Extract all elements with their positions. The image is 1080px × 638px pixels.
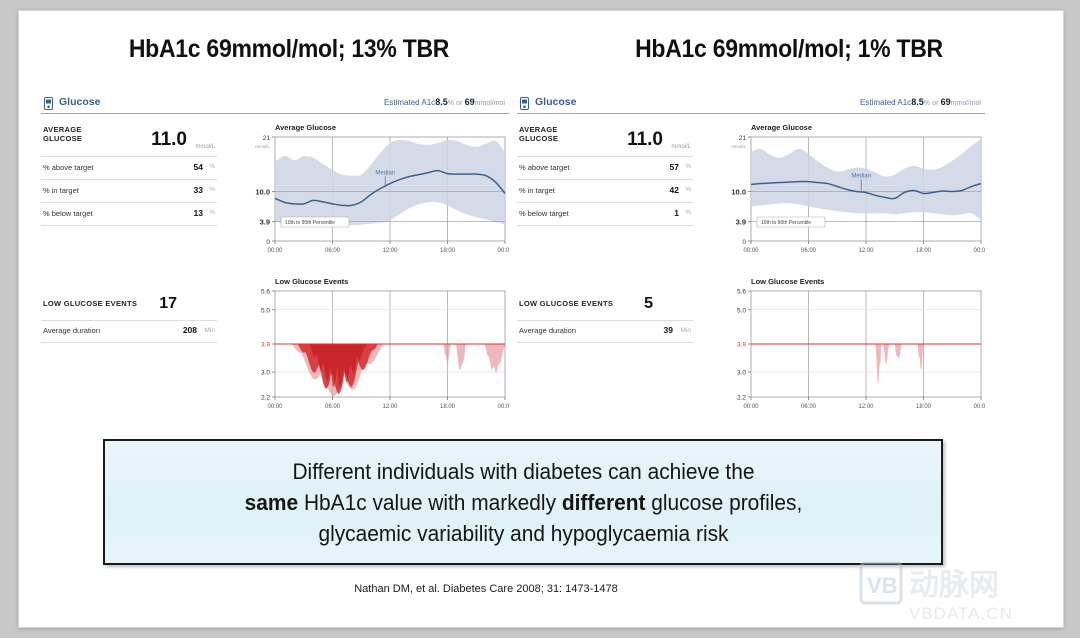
- table-row: % below target 13 %: [41, 203, 217, 226]
- a1c-percent-unit: %: [448, 100, 454, 107]
- svg-text:00:00: 00:00: [743, 248, 759, 254]
- table-row: % above target 57 %: [517, 157, 693, 180]
- svg-text:3.9: 3.9: [260, 218, 270, 227]
- svg-text:06:00: 06:00: [801, 404, 817, 410]
- row-label: % in target: [43, 186, 79, 195]
- svg-text:Median: Median: [375, 171, 395, 177]
- svg-text:10.0: 10.0: [255, 187, 270, 196]
- callout-line-1: Different individuals with diabetes can …: [292, 459, 754, 484]
- heading-right: HbA1c 69mmol/mol; 1% TBR: [577, 35, 1000, 64]
- table-row: % in target 33 %: [41, 180, 217, 203]
- panel-title-right: Glucose: [535, 96, 576, 108]
- svg-text:0: 0: [266, 239, 270, 246]
- svg-text:5.0: 5.0: [737, 307, 746, 314]
- svg-text:5.0: 5.0: [261, 307, 270, 314]
- a1c-prefix: Estimated A1c: [860, 98, 911, 107]
- row-unit: %: [685, 186, 691, 193]
- average-duration-value: 39: [664, 325, 673, 335]
- svg-text:Median: Median: [851, 173, 871, 179]
- svg-text:06:00: 06:00: [325, 404, 341, 410]
- low-glucose-events-row: LOW GLUCOSE EVENTS 5: [517, 293, 693, 321]
- svg-text:06:00: 06:00: [325, 248, 341, 254]
- panel-header-right: Glucose Estimated A1c8.5% or 69mmol/mol: [517, 95, 985, 114]
- a1c-percent-value: 8.5: [911, 97, 924, 107]
- svg-text:3.0: 3.0: [261, 370, 270, 377]
- svg-text:VBDATA.CN: VBDATA.CN: [909, 604, 1013, 623]
- svg-text:0: 0: [742, 239, 746, 246]
- svg-text:18:00: 18:00: [916, 404, 932, 410]
- low-glucose-events-value: 5: [644, 295, 653, 313]
- svg-text:2.2: 2.2: [261, 395, 270, 402]
- average-duration-label: Average duration: [519, 326, 576, 335]
- svg-text:21: 21: [739, 135, 747, 142]
- table-row: % in target 42 %: [517, 180, 693, 203]
- average-glucose-label: AVERAGE GLUCOSE: [43, 125, 113, 143]
- svg-text:12:00: 12:00: [382, 248, 398, 254]
- average-glucose-chart-left: Average Glucose 2110.03.90mmol/L00:0006:…: [233, 123, 509, 263]
- row-unit: %: [209, 186, 215, 193]
- average-glucose-row: AVERAGE GLUCOSE 11.0 mmol/L: [517, 123, 693, 157]
- panel-header-left: Glucose Estimated A1c8.5% or 69mmol/mol: [41, 95, 509, 114]
- callout-line-2-mid: HbA1c value with markedly: [298, 490, 562, 515]
- svg-text:00:00: 00:00: [497, 248, 509, 254]
- low-glucose-events-label: LOW GLUCOSE EVENTS: [43, 299, 137, 308]
- a1c-percent-value: 8.5: [435, 97, 448, 107]
- average-glucose-unit: mmol/L: [671, 144, 691, 150]
- glucose-meter-icon: [44, 97, 53, 115]
- svg-text:2.2: 2.2: [737, 395, 746, 402]
- row-label: % below target: [519, 209, 569, 218]
- svg-text:12:00: 12:00: [382, 404, 398, 410]
- callout-line-2-end: glucose profiles,: [645, 490, 802, 515]
- row-value: 1: [674, 208, 679, 218]
- low-glucose-events-table-left: LOW GLUCOSE EVENTS 17 Average duration 2…: [41, 293, 217, 343]
- callout-emphasis-different: different: [561, 490, 645, 515]
- svg-text:10th to 90th Percentile: 10th to 90th Percentile: [285, 220, 335, 226]
- svg-text:00:00: 00:00: [267, 404, 283, 410]
- svg-text:00:00: 00:00: [497, 404, 509, 410]
- report-panel-right: Glucose Estimated A1c8.5% or 69mmol/mol …: [513, 95, 989, 425]
- average-duration-row: Average duration 208 Min: [41, 321, 217, 343]
- low-glucose-events-value: 17: [159, 295, 177, 313]
- low-glucose-events-label: LOW GLUCOSE EVENTS: [519, 299, 613, 308]
- a1c-mmol-value: 69: [465, 97, 475, 107]
- svg-text:00:00: 00:00: [743, 404, 759, 410]
- average-glucose-row: AVERAGE GLUCOSE 11.0 mmol/L: [41, 123, 217, 157]
- panel-title-left: Glucose: [59, 96, 100, 108]
- citation: Nathan DM, et al. Diabetes Care 2008; 31…: [19, 583, 1063, 595]
- a1c-prefix: Estimated A1c: [384, 98, 435, 107]
- a1c-mmol-value: 69: [941, 97, 951, 107]
- average-duration-unit: Min: [681, 327, 691, 334]
- low-glucose-events-chart-right: Low Glucose Events 5.65.03.93.02.200:000…: [709, 277, 985, 419]
- average-glucose-unit: mmol/L: [195, 144, 215, 150]
- row-value: 13: [194, 208, 203, 218]
- a1c-percent-unit: %: [924, 100, 930, 107]
- callout-line-3: glycaemic variability and hypoglycaemia …: [318, 521, 728, 546]
- row-value: 57: [670, 162, 679, 172]
- stats-table-right: AVERAGE GLUCOSE 11.0 mmol/L % above targ…: [517, 123, 693, 226]
- row-label: % in target: [519, 186, 555, 195]
- row-label: % below target: [43, 209, 93, 218]
- heading-left: HbA1c 69mmol/mol; 13% TBR: [77, 35, 500, 64]
- row-label: % above target: [519, 163, 569, 172]
- report-panel-left: Glucose Estimated A1c8.5% or 69mmol/mol …: [37, 95, 513, 425]
- average-duration-value: 208: [183, 325, 197, 335]
- svg-text:10.0: 10.0: [731, 187, 746, 196]
- svg-text:00:00: 00:00: [973, 248, 985, 254]
- average-glucose-value: 11.0: [151, 129, 187, 151]
- row-value: 42: [670, 185, 679, 195]
- svg-text:06:00: 06:00: [801, 248, 817, 254]
- svg-text:12:00: 12:00: [858, 404, 874, 410]
- glucose-meter-icon: [520, 97, 529, 115]
- svg-text:00:00: 00:00: [973, 404, 985, 410]
- headings-row: HbA1c 69mmol/mol; 13% TBR HbA1c 69mmol/m…: [19, 35, 1063, 79]
- low-glucose-events-row: LOW GLUCOSE EVENTS 17: [41, 293, 217, 321]
- svg-text:18:00: 18:00: [440, 248, 456, 254]
- row-value: 33: [194, 185, 203, 195]
- svg-text:21: 21: [263, 135, 271, 142]
- average-glucose-chart-right: Average Glucose 2110.03.90mmol/L00:0006:…: [709, 123, 985, 263]
- svg-text:3.0: 3.0: [737, 370, 746, 377]
- svg-text:mmol/L: mmol/L: [731, 144, 746, 149]
- callout-emphasis-same: same: [244, 490, 297, 515]
- svg-text:mmol/L: mmol/L: [255, 144, 270, 149]
- svg-text:3.9: 3.9: [736, 218, 746, 227]
- row-value: 54: [194, 162, 203, 172]
- stats-table-left: AVERAGE GLUCOSE 11.0 mmol/L % above targ…: [41, 123, 217, 226]
- estimated-a1c-left: Estimated A1c8.5% or 69mmol/mol: [384, 97, 505, 107]
- a1c-mmol-unit: mmol/mol: [951, 100, 981, 107]
- average-duration-label: Average duration: [43, 326, 100, 335]
- svg-text:3.9: 3.9: [737, 342, 746, 349]
- svg-text:3.9: 3.9: [261, 342, 270, 349]
- row-unit: %: [685, 209, 691, 216]
- estimated-a1c-right: Estimated A1c8.5% or 69mmol/mol: [860, 97, 981, 107]
- table-row: % above target 54 %: [41, 157, 217, 180]
- low-glucose-events-chart-left: Low Glucose Events 5.65.03.93.02.200:000…: [233, 277, 509, 419]
- row-unit: %: [685, 163, 691, 170]
- row-label: % above target: [43, 163, 93, 172]
- callout-box: Different individuals with diabetes can …: [103, 439, 943, 565]
- svg-text:18:00: 18:00: [916, 248, 932, 254]
- average-glucose-value: 11.0: [627, 129, 663, 151]
- a1c-or: or: [932, 100, 938, 107]
- average-duration-unit: Min: [205, 327, 215, 334]
- row-unit: %: [209, 209, 215, 216]
- svg-text:5.6: 5.6: [261, 289, 270, 296]
- svg-text:10th to 90th Percentile: 10th to 90th Percentile: [761, 220, 811, 226]
- svg-text:5.6: 5.6: [737, 289, 746, 296]
- svg-text:00:00: 00:00: [267, 248, 283, 254]
- svg-text:12:00: 12:00: [858, 248, 874, 254]
- row-unit: %: [209, 163, 215, 170]
- svg-text:18:00: 18:00: [440, 404, 456, 410]
- a1c-mmol-unit: mmol/mol: [475, 100, 505, 107]
- slide: HbA1c 69mmol/mol; 13% TBR HbA1c 69mmol/m…: [18, 10, 1064, 628]
- a1c-or: or: [456, 100, 462, 107]
- low-glucose-events-table-right: LOW GLUCOSE EVENTS 5 Average duration 39…: [517, 293, 693, 343]
- average-glucose-label: AVERAGE GLUCOSE: [519, 125, 589, 143]
- table-row: % below target 1 %: [517, 203, 693, 226]
- average-duration-row: Average duration 39 Min: [517, 321, 693, 343]
- callout-text: Different individuals with diabetes can …: [244, 456, 802, 549]
